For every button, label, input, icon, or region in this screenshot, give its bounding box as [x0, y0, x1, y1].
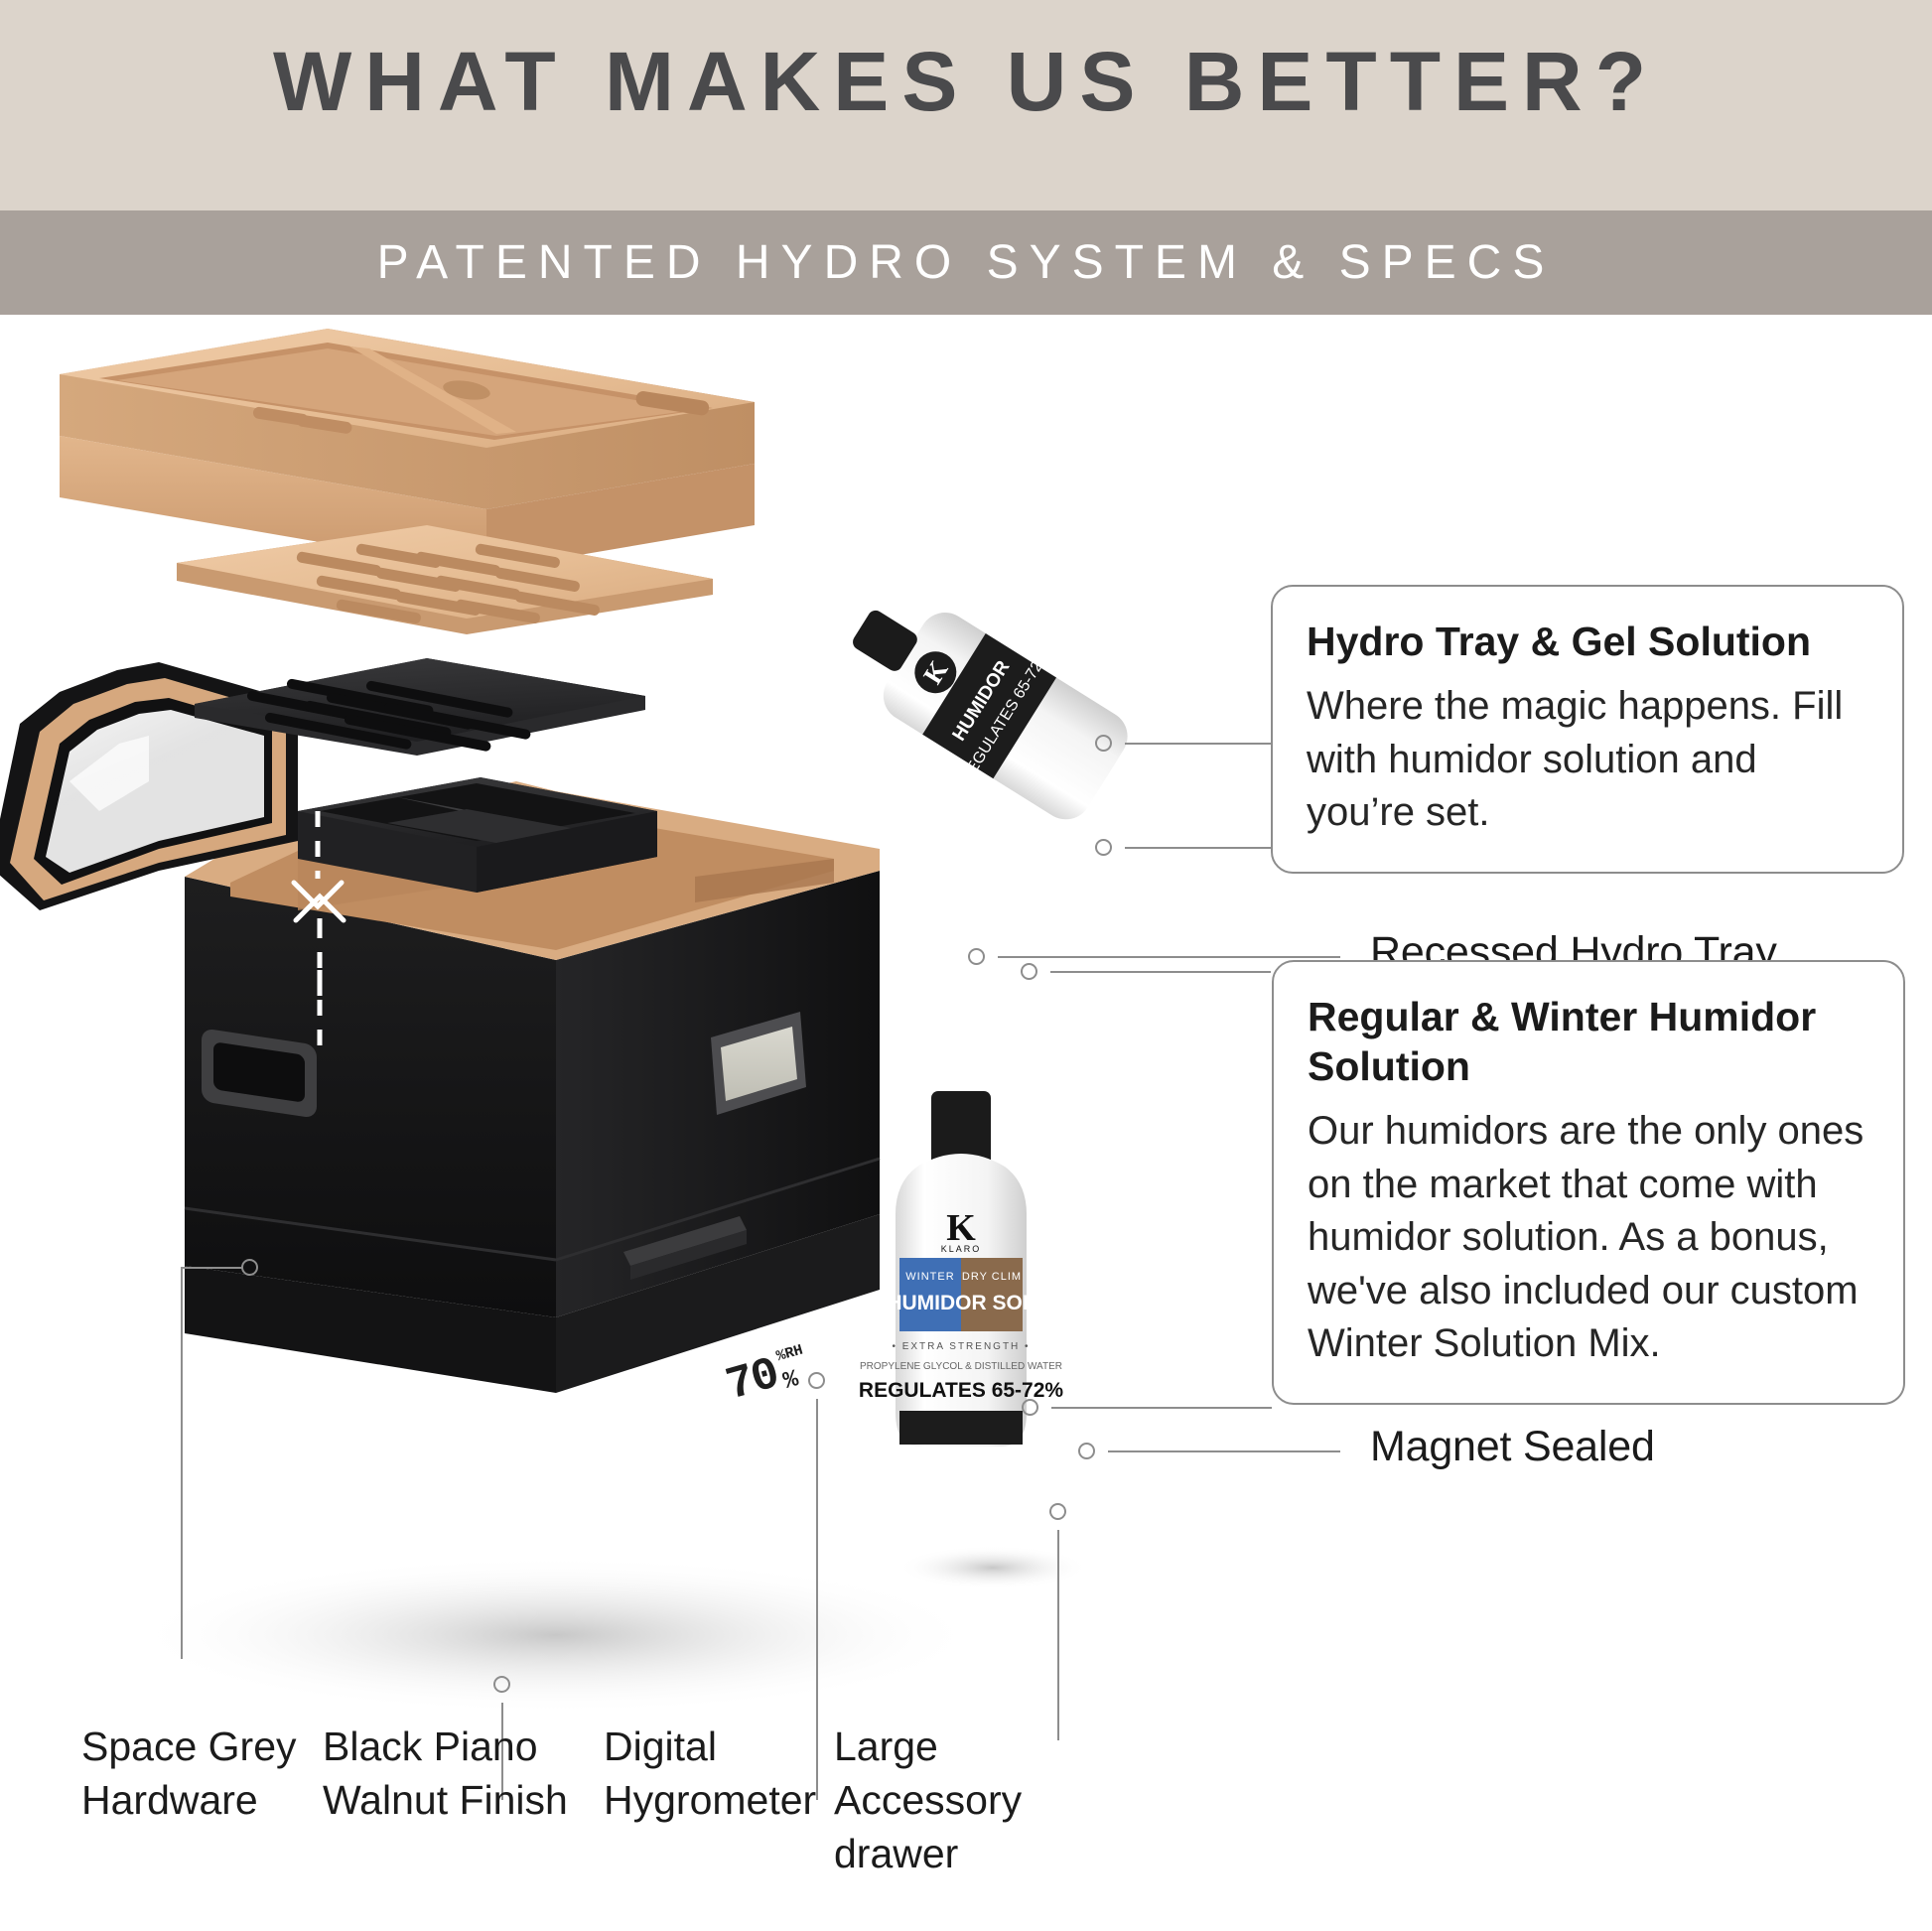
- humidor-exploded-illustration: HUMIDOR REGULATES 65-72% K WINTER DRY CL…: [0, 315, 1172, 1931]
- hygrometer-secondary-unit: %RH: [774, 1342, 805, 1366]
- callout-label-magnet-sealed: Magnet Sealed: [1370, 1423, 1655, 1471]
- svg-text:DRY CLIM: DRY CLIM: [962, 1271, 1022, 1283]
- humidor-solution-bottle-upper: HUMIDOR REGULATES 65-72% K: [821, 561, 1147, 844]
- spec-label-line1-black-piano: Black Piano: [323, 1724, 538, 1769]
- spec-label-line2-large-accessory: drawer: [834, 1831, 958, 1876]
- spec-label-line1-space-grey: Space Grey: [81, 1724, 297, 1769]
- callout-box-title-hydro: Hydro Tray & Gel Solution: [1307, 617, 1868, 666]
- lead-line-magnet-sealed: [1108, 1450, 1340, 1452]
- spec-label-digital-hygrometer: Digital Hygrometer: [604, 1720, 862, 1827]
- callout-box-title-winter: Regular & Winter Humidor Solution: [1308, 992, 1869, 1091]
- callout-box-hydro-tray-gel-solution: Hydro Tray & Gel Solution Where the magi…: [1271, 585, 1904, 874]
- lead-dot-large-accessory-drawer: [1049, 1503, 1066, 1520]
- lead-line-box-hydro: [1050, 971, 1271, 973]
- lead-dot-box-winter: [1022, 1399, 1038, 1416]
- callout-box-body-winter: Our humidors are the only ones on the ma…: [1308, 1105, 1869, 1371]
- lead-dot-recessed-hydro-tray: [968, 948, 985, 965]
- spec-label-black-piano-walnut-finish: Black Piano Walnut Finish: [323, 1720, 581, 1827]
- lead-line-v-space-grey-hardware: [181, 1267, 183, 1659]
- svg-text:WINTER: WINTER: [905, 1271, 954, 1283]
- svg-text:KLARO: KLARO: [941, 1244, 982, 1254]
- header-band-secondary: PATENTED HYDRO SYSTEM & SPECS: [0, 210, 1932, 315]
- svg-text:K: K: [946, 1207, 976, 1249]
- spec-label-space-grey-hardware: Space Grey Hardware: [81, 1720, 340, 1827]
- lead-dot-removable-storage-tray: [1095, 735, 1112, 752]
- lead-dot-black-piano-walnut-finish: [493, 1676, 510, 1693]
- header-band-primary: WHAT MAKES US BETTER?: [0, 0, 1932, 210]
- callout-box-regular-winter-humidor-solution: Regular & Winter Humidor Solution Our hu…: [1272, 960, 1905, 1405]
- hygrometer-unit: %: [780, 1366, 801, 1396]
- lead-line-recessed-hydro-tray: [998, 956, 1340, 958]
- svg-text:• EXTRA STRENGTH •: • EXTRA STRENGTH •: [892, 1341, 1030, 1352]
- lead-dot-space-grey-hardware: [241, 1259, 258, 1276]
- spec-label-line1-large-accessory: Large Accessory: [834, 1724, 1022, 1823]
- page-title: WHAT MAKES US BETTER?: [0, 34, 1932, 130]
- spec-label-line1-digital: Digital: [604, 1724, 717, 1769]
- spec-label-line2-black-piano: Walnut Finish: [323, 1777, 568, 1823]
- lead-line-v-large-accessory-drawer: [1057, 1530, 1059, 1740]
- callout-box-body-hydro: Where the magic happens. Fill with humid…: [1307, 680, 1868, 840]
- lead-dot-magnet-sealed: [1078, 1443, 1095, 1459]
- page-subtitle: PATENTED HYDRO SYSTEM & SPECS: [0, 235, 1932, 290]
- lead-line-box-winter: [1051, 1407, 1272, 1409]
- lead-dot-cedar-wood-construction: [1095, 839, 1112, 856]
- spec-label-large-accessory-drawer: Large Accessory drawer: [834, 1720, 1132, 1880]
- product-diagram-stage: HUMIDOR REGULATES 65-72% K WINTER DRY CL…: [0, 315, 1932, 1931]
- lead-dot-box-hydro: [1021, 963, 1037, 980]
- svg-text:PROPYLENE GLYCOL & DISTILLED W: PROPYLENE GLYCOL & DISTILLED WATER: [860, 1361, 1062, 1372]
- lead-line-h-space-grey-hardware: [181, 1267, 242, 1269]
- svg-text:HUMIDOR SOL: HUMIDOR SOL: [887, 1292, 1035, 1314]
- spec-label-line2-space-grey: Hardware: [81, 1777, 258, 1823]
- spec-label-line2-digital: Hygrometer: [604, 1777, 816, 1823]
